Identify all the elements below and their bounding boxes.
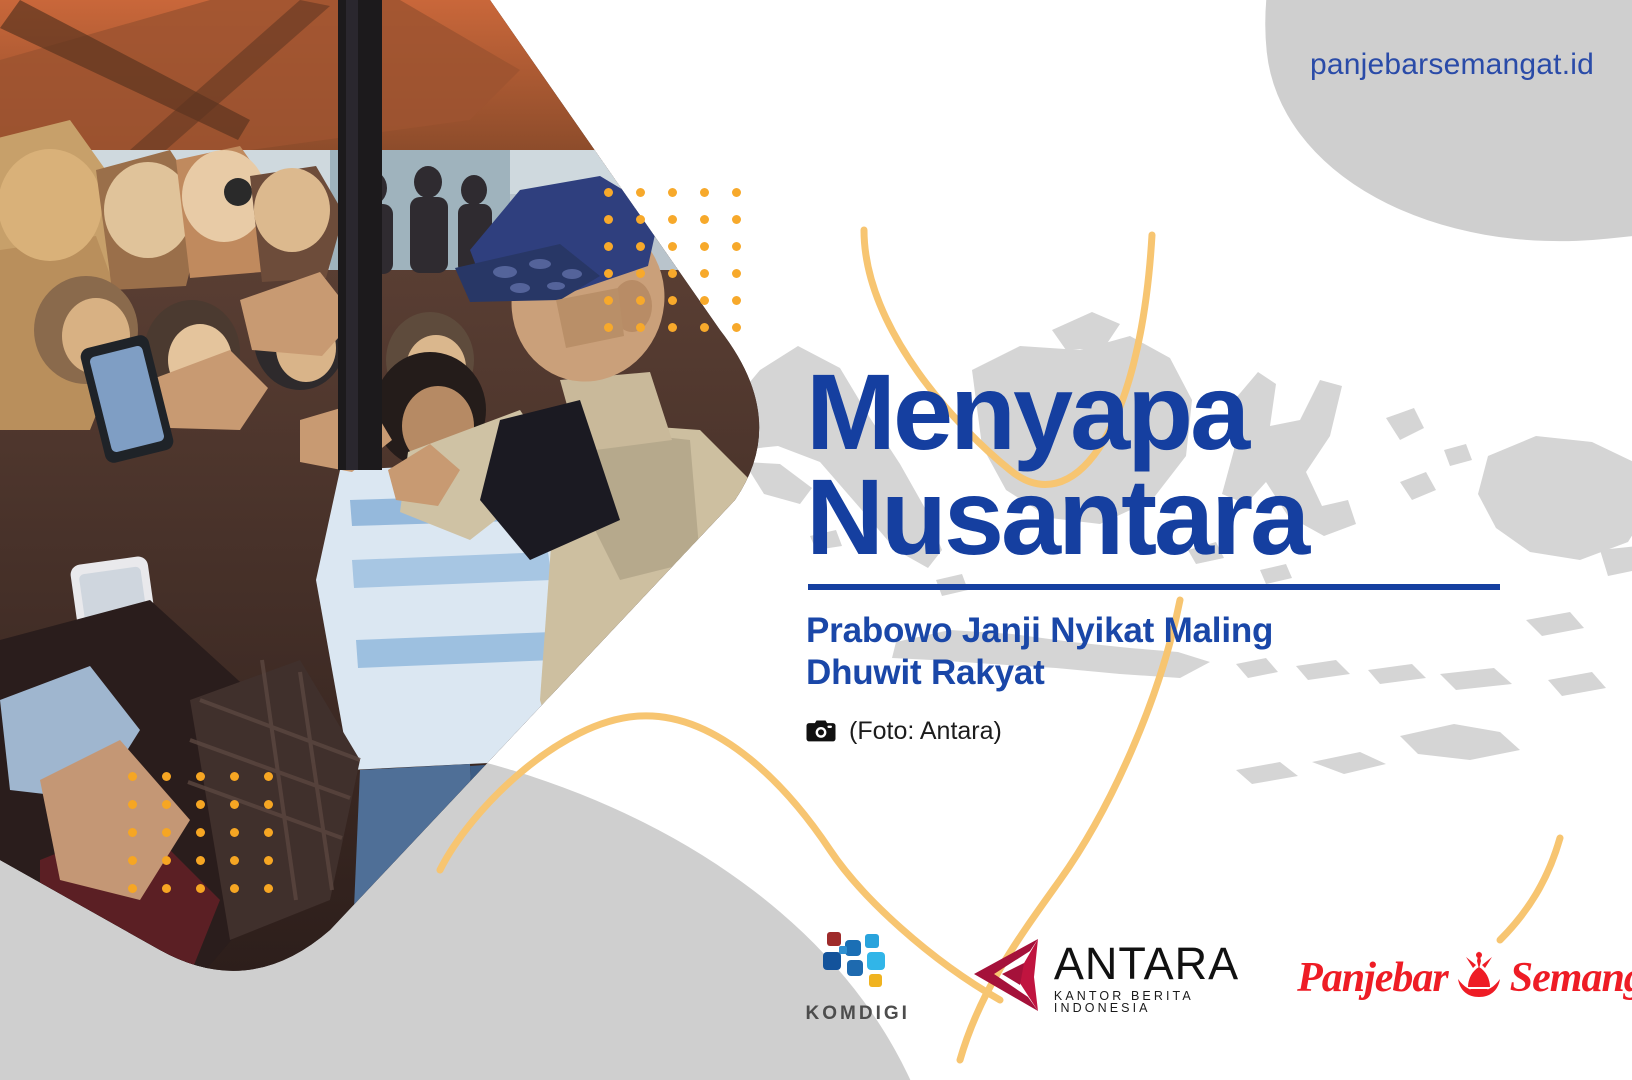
antara-tagline: KANTOR BERITA INDONESIA — [1054, 990, 1239, 1015]
dot — [732, 215, 741, 224]
logo-antara: ANTARA KANTOR BERITA INDONESIA — [968, 937, 1239, 1018]
headline-block: Menyapa Nusantara Prabowo Janji Nyikat M… — [806, 360, 1596, 746]
komdigi-wordmark: KOMDIGI — [806, 1003, 910, 1025]
dot — [128, 800, 137, 809]
dot — [128, 772, 137, 781]
dot — [162, 856, 171, 865]
dot — [668, 269, 677, 278]
dot — [162, 828, 171, 837]
subtitle: Prabowo Janji Nyikat Maling Dhuwit Rakya… — [806, 610, 1446, 695]
dot — [732, 323, 741, 332]
ps-word-panjebar: Panjebar — [1297, 954, 1448, 1002]
dot — [700, 323, 709, 332]
dot — [604, 215, 613, 224]
dot — [230, 884, 239, 893]
dot — [604, 269, 613, 278]
dot — [230, 800, 239, 809]
dot — [668, 296, 677, 305]
dot — [196, 800, 205, 809]
subtitle-line-1: Prabowo Janji Nyikat Maling — [806, 610, 1446, 653]
dot — [604, 296, 613, 305]
dot — [668, 242, 677, 251]
dot — [732, 296, 741, 305]
logo-komdigi: KOMDIGI — [806, 930, 910, 1025]
page-title-line-1: Menyapa — [806, 360, 1596, 465]
dot-grid-top — [604, 188, 764, 350]
photo-credit-text: (Foto: Antara) — [849, 717, 1002, 746]
logo-panjebar-semangat: Panjebar Semangat — [1297, 949, 1632, 1006]
dot — [230, 856, 239, 865]
dot — [128, 828, 137, 837]
dot — [636, 296, 645, 305]
dot — [162, 884, 171, 893]
dot — [604, 242, 613, 251]
dot — [196, 828, 205, 837]
dot — [604, 323, 613, 332]
dot — [700, 269, 709, 278]
photo-credit: (Foto: Antara) — [806, 717, 1596, 746]
dot — [732, 242, 741, 251]
dot — [636, 323, 645, 332]
dot — [162, 800, 171, 809]
logo-row: KOMDIGI ANTARA KANTOR BERITA INDONESIA P… — [900, 925, 1580, 1030]
title-divider — [808, 584, 1500, 590]
poster-canvas: panjebarsemangat.id Menyapa Nusantara Pr… — [0, 0, 1632, 1080]
dot — [230, 828, 239, 837]
dot — [668, 215, 677, 224]
dot — [128, 884, 137, 893]
dot — [636, 215, 645, 224]
dot — [196, 772, 205, 781]
ps-word-semangat: Semangat — [1510, 954, 1632, 1002]
dot — [668, 188, 677, 197]
page-title-line-2: Nusantara — [806, 465, 1596, 570]
dot — [196, 856, 205, 865]
dot — [732, 188, 741, 197]
dot — [264, 828, 273, 837]
dot — [700, 242, 709, 251]
dot — [636, 269, 645, 278]
antara-wordmark: ANTARA — [1054, 941, 1239, 986]
decorative-blob-top-right — [1238, 0, 1632, 272]
dot — [636, 188, 645, 197]
dot — [700, 296, 709, 305]
dot — [604, 188, 613, 197]
dot — [264, 772, 273, 781]
dot — [264, 800, 273, 809]
dot — [636, 242, 645, 251]
dot — [668, 323, 677, 332]
dot — [162, 772, 171, 781]
dot — [128, 856, 137, 865]
dot — [700, 215, 709, 224]
subtitle-line-2: Dhuwit Rakyat — [806, 652, 1446, 695]
dot — [196, 884, 205, 893]
dot — [700, 188, 709, 197]
dot — [264, 884, 273, 893]
komdigi-blocks-icon — [821, 930, 895, 997]
camera-icon — [806, 719, 836, 743]
site-url: panjebarsemangat.id — [1310, 48, 1594, 82]
dot — [264, 856, 273, 865]
dot-grid-bottom — [128, 772, 298, 912]
dot — [732, 269, 741, 278]
antara-triangle-icon — [968, 937, 1042, 1018]
ps-emblem-icon — [1454, 949, 1504, 1006]
dot — [230, 772, 239, 781]
